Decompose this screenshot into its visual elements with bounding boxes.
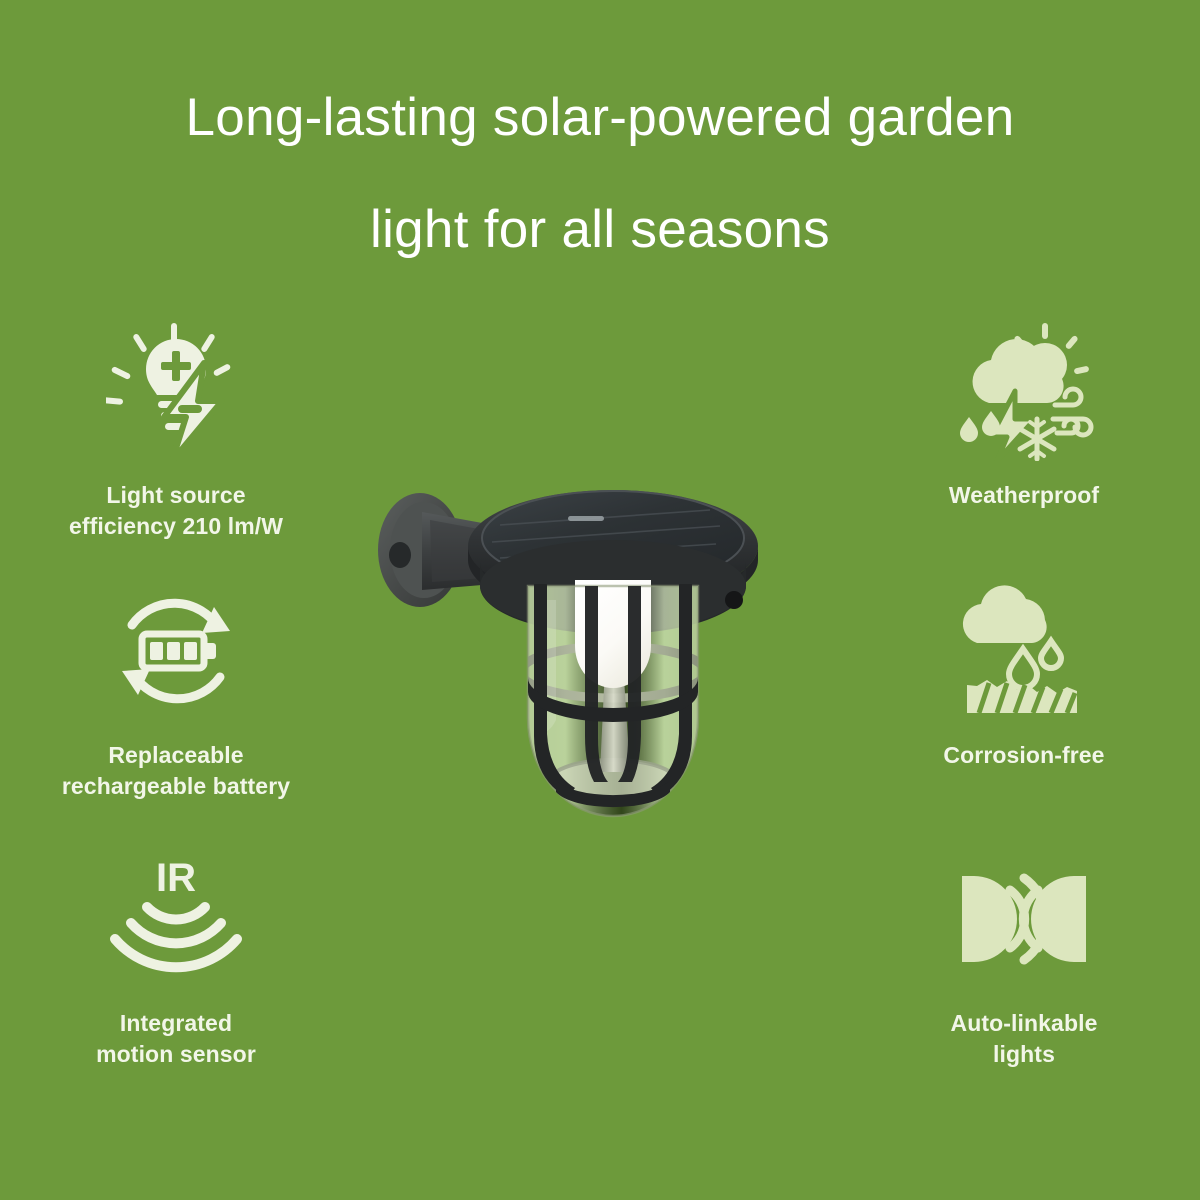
feature-weatherproof: Weatherproof: [874, 318, 1174, 511]
icon-box: [26, 578, 326, 728]
rechargeable-battery-recycle-icon: [106, 581, 246, 726]
weather-sun-cloud-storm-snow-wind-icon: [949, 321, 1099, 466]
auto-linkable-signal-icon: [944, 864, 1104, 979]
feature-caption: Corrosion-free: [874, 740, 1174, 771]
product-image-solar-wall-lantern: [360, 450, 860, 910]
icon-box: [874, 578, 1174, 728]
icon-box: [874, 318, 1174, 468]
lightbulb-plus-bolt-minus-icon: [106, 321, 246, 466]
feature-caption: Integrated motion sensor: [26, 1008, 326, 1070]
product-infographic: Long-lasting solar-powered garden light …: [0, 0, 1200, 1200]
feature-motion-sensor: IR Integrated motion sensor: [26, 846, 326, 1070]
ir-motion-sensor-icon: IR: [101, 859, 251, 984]
feature-light-source-efficiency: Light source efficiency 210 lm/W: [26, 318, 326, 542]
feature-caption: Weatherproof: [874, 480, 1174, 511]
icon-box: IR: [26, 846, 326, 996]
feature-caption: Auto-linkable lights: [874, 1008, 1174, 1070]
feature-caption: Replaceable rechargeable battery: [26, 740, 326, 802]
feature-replaceable-battery: Replaceable rechargeable battery: [26, 578, 326, 802]
feature-caption: Light source efficiency 210 lm/W: [26, 480, 326, 542]
svg-text:IR: IR: [156, 859, 196, 900]
feature-auto-linkable-lights: Auto-linkable lights: [874, 846, 1174, 1070]
icon-box: [874, 846, 1174, 996]
page-title: Long-lasting solar-powered garden light …: [0, 62, 1200, 286]
icon-box: [26, 318, 326, 468]
feature-corrosion-free: Corrosion-free: [874, 578, 1174, 771]
cloud-rain-corroded-surface-icon: [949, 581, 1099, 726]
